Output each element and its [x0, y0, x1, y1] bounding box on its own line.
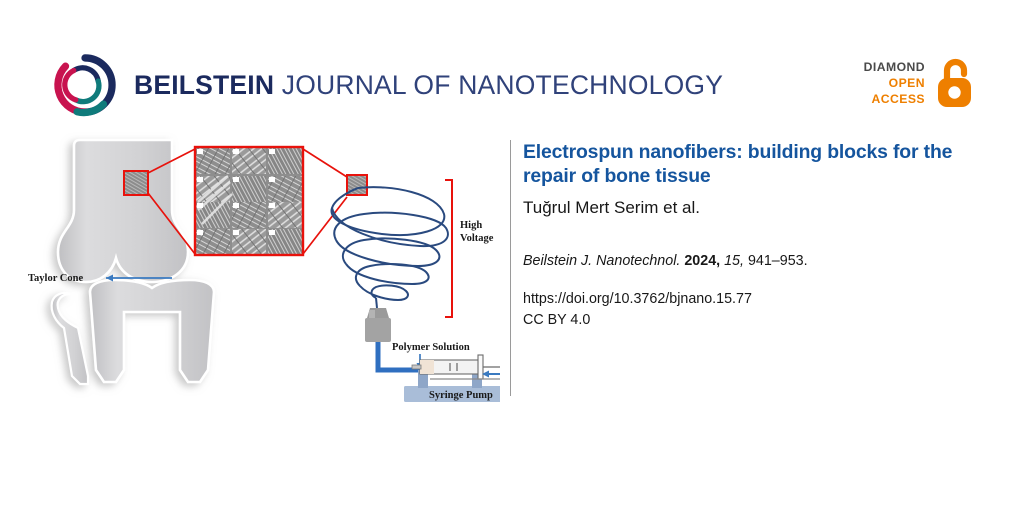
article-title-line1: Electrospun nanofibers: building blocks …	[523, 141, 918, 163]
spinneret-nozzle	[365, 308, 391, 342]
sem-micrograph-grid	[195, 147, 303, 255]
citation-journal: Beilstein J. Nanotechnol.	[523, 253, 680, 269]
article-authors: Tuğrul Mert Serim et al.	[523, 197, 985, 218]
article-banner: BEILSTEIN JOURNAL OF NANOTECHNOLOGY DIAM…	[0, 0, 1024, 512]
high-voltage-bracket	[445, 180, 452, 317]
doi-license-block: https://doi.org/10.3762/bjnano.15.77 CC …	[523, 289, 985, 330]
label-taylor-cone: Taylor Cone	[28, 273, 83, 284]
zoom-connector-right	[303, 149, 347, 254]
beilstein-circle-swirl-logo-icon	[52, 52, 118, 118]
doi-link[interactable]: https://doi.org/10.3762/bjnano.15.77	[523, 289, 985, 309]
vertical-divider	[510, 140, 511, 396]
label-high-voltage-line1: High	[460, 220, 482, 231]
oa-line-open: OPEN	[864, 75, 925, 91]
wordmark-light: JOURNAL OF NANOTECHNOLOGY	[274, 70, 723, 100]
electrospinning-jet	[332, 187, 448, 308]
wordmark-bold: BEILSTEIN	[134, 70, 274, 100]
citation-volume: 15,	[724, 253, 744, 269]
citation-year: 2024,	[684, 253, 720, 269]
bone-inset-marker	[124, 171, 148, 195]
label-syringe-pump: Syringe Pump	[429, 390, 493, 401]
article-title[interactable]: Electrospun nanofibers: building blocks …	[523, 141, 985, 188]
oa-line-access: ACCESS	[864, 91, 925, 107]
journal-logo-group[interactable]: BEILSTEIN JOURNAL OF NANOTECHNOLOGY	[52, 52, 723, 118]
license-label[interactable]: CC BY 4.0	[523, 310, 985, 330]
citation: Beilstein J. Nanotechnol. 2024, 15, 941–…	[523, 251, 985, 272]
masthead: BEILSTEIN JOURNAL OF NANOTECHNOLOGY DIAM…	[0, 0, 1024, 130]
open-padlock-icon	[934, 57, 978, 109]
oa-line-diamond: DIAMOND	[864, 59, 925, 75]
graphical-abstract-figure: High Voltage Taylor Cone Polymer Solutio…	[20, 132, 500, 402]
open-access-badge[interactable]: DIAMOND OPEN ACCESS	[864, 57, 978, 109]
label-polymer-solution: Polymer Solution	[392, 342, 470, 353]
open-access-label: DIAMOND OPEN ACCESS	[864, 59, 925, 107]
graphical-abstract-illustration: High Voltage Taylor Cone Polymer Solutio…	[20, 132, 500, 402]
citation-pages: 941–953.	[744, 253, 808, 269]
label-high-voltage-line2: Voltage	[460, 233, 494, 244]
journal-wordmark: BEILSTEIN JOURNAL OF NANOTECHNOLOGY	[134, 72, 723, 99]
article-info-panel: Electrospun nanofibers: building blocks …	[523, 141, 985, 330]
